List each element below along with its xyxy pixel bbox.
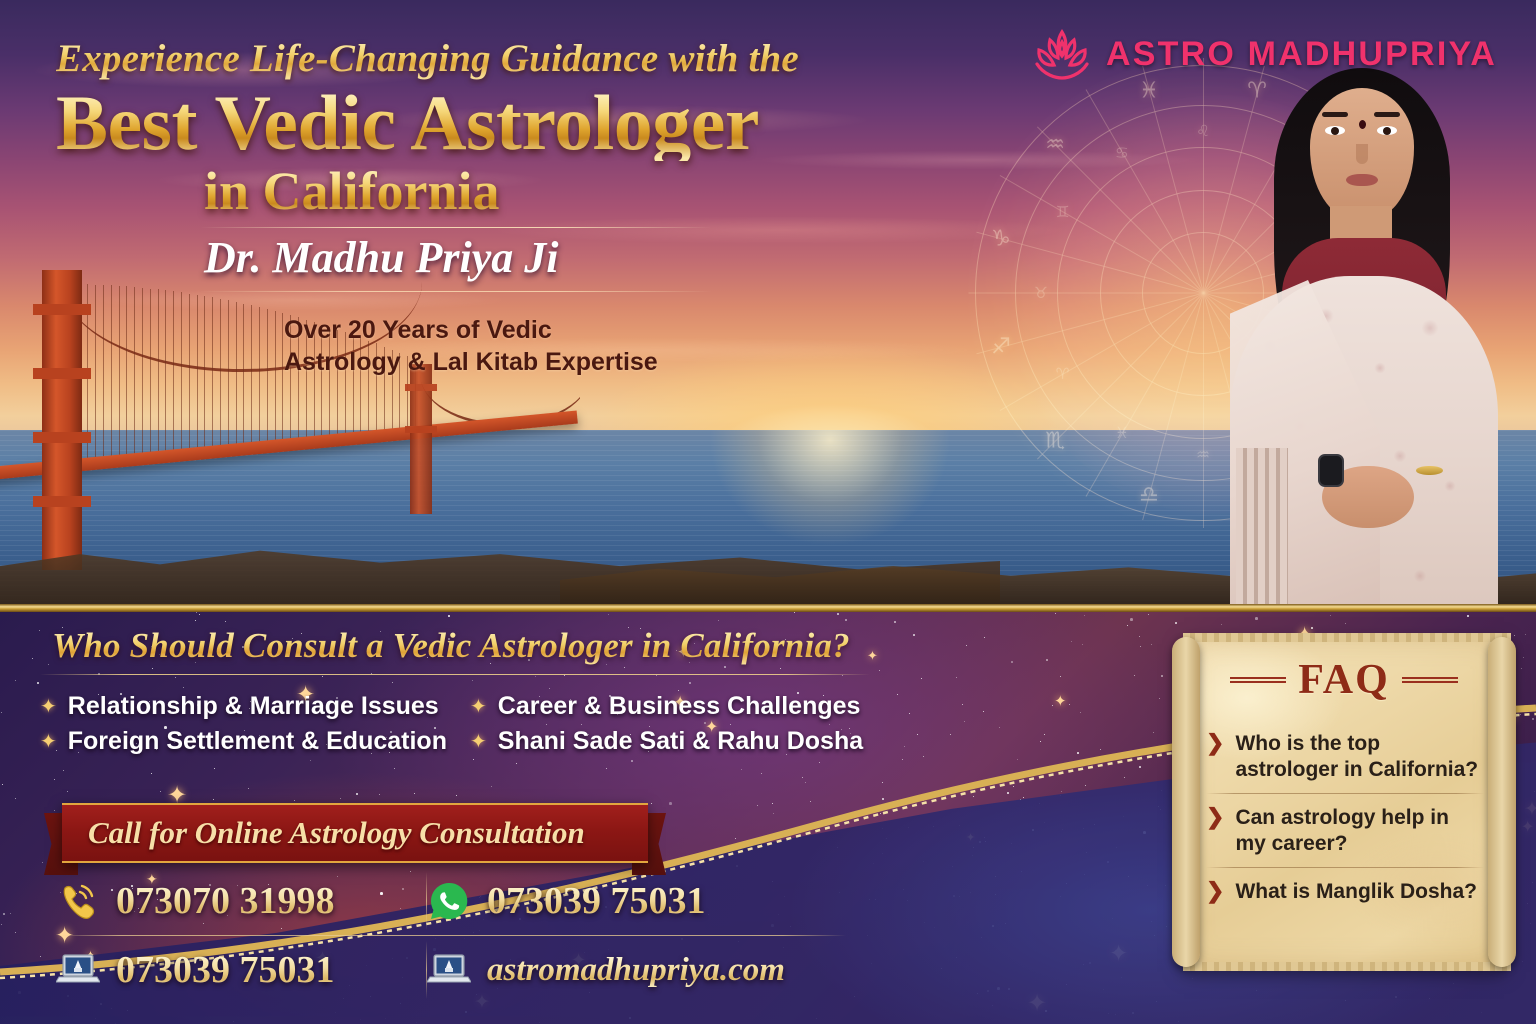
list-item: ✦ Foreign Settlement & Education <box>40 727 470 756</box>
wristwatch <box>1318 454 1344 487</box>
faq-item[interactable]: ❯ Who is the top astrologer in Californi… <box>1206 720 1484 793</box>
contact-whatsapp[interactable]: 073039 75031 <box>427 879 827 923</box>
hero-title-line1: Best Vedic Astrologer <box>56 85 886 161</box>
saree-pleats <box>1236 448 1288 612</box>
contact-row-1: 073070 31998 073039 75031 <box>56 872 846 930</box>
headline-divider-top <box>200 227 712 228</box>
consult-heading-underline <box>40 674 870 675</box>
hero-eyebrow: Experience Life-Changing Guidance with t… <box>56 36 886 81</box>
cta-ribbon: Call for Online Astrology Consultation <box>44 803 664 863</box>
contact-website[interactable]: astromadhupriya.com <box>427 950 827 990</box>
nose <box>1356 144 1368 164</box>
lotus-icon <box>1032 26 1092 82</box>
faq-item[interactable]: ❯ What is Manglik Dosha? <box>1206 868 1484 916</box>
consult-bullet-list: ✦ Relationship & Marriage Issues ✦ Caree… <box>40 692 870 756</box>
contact-phone-secondary[interactable]: 073039 75031 <box>56 948 426 992</box>
bindi <box>1359 120 1366 129</box>
contact-phone[interactable]: 073070 31998 <box>56 879 426 923</box>
contact-value: 073070 31998 <box>116 879 335 923</box>
list-item-label: Foreign Settlement & Education <box>68 727 447 756</box>
eye-left <box>1325 126 1345 135</box>
contact-block: 073070 31998 073039 75031 <box>56 872 846 999</box>
faq-dash-left <box>1230 677 1286 683</box>
eyebrow-left <box>1322 112 1348 117</box>
headline-divider-bottom <box>200 291 712 292</box>
list-item-label: Shani Sade Sati & Rahu Dosha <box>498 727 863 756</box>
chevron-right-icon: ❯ <box>1206 879 1224 905</box>
sparkle-icon: ✦ <box>470 694 487 719</box>
bridge-tower-far <box>410 364 432 514</box>
brand-logo[interactable]: ASTRO MADHUPRIYA <box>1032 26 1497 82</box>
hero-section: ♈♉♊♋♌♍♎♏♐♑♒♓♍♎♏♐♑♒♓♈♉♊♋♌ <box>0 0 1536 612</box>
brand-name: ASTRO MADHUPRIYA <box>1106 35 1497 74</box>
contact-value: 073039 75031 <box>487 879 706 923</box>
faq-question: Who is the top astrologer in California? <box>1235 731 1484 782</box>
hero-title-line2: in California <box>56 163 886 220</box>
hero-subtitle: Over 20 Years of Vedic Astrology & Lal K… <box>284 314 886 379</box>
lips <box>1346 174 1378 186</box>
eye-right <box>1377 126 1397 135</box>
list-item: ✦ Relationship & Marriage Issues <box>40 692 470 721</box>
faq-question: Can astrology help in my career? <box>1235 805 1484 856</box>
contact-row-2: 073039 75031 astromadhupriya.com <box>56 941 846 999</box>
chevron-right-icon: ❯ <box>1206 731 1224 782</box>
chevron-right-icon: ❯ <box>1206 805 1224 856</box>
faq-title: FAQ <box>1298 656 1390 704</box>
astrologer-name: Dr. Madhu Priya Ji <box>56 232 886 283</box>
faq-question-list: ❯ Who is the top astrologer in Californi… <box>1206 720 1484 916</box>
ribbon-label: Call for Online Astrology Consultation <box>88 815 585 851</box>
gold-section-divider <box>0 604 1536 612</box>
faq-panel: FAQ ❯ Who is the top astrologer in Calif… <box>1172 628 1516 976</box>
hero-headline-block: Experience Life-Changing Guidance with t… <box>56 36 886 379</box>
list-item: ✦ Career & Business Challenges <box>470 692 870 721</box>
contact-horizontal-divider <box>56 935 846 936</box>
faq-dash-right <box>1402 677 1458 683</box>
consult-heading: Who Should Consult a Vedic Astrologer in… <box>52 626 850 666</box>
eyebrow-right <box>1374 112 1400 117</box>
sparkle-icon: ✦ <box>40 729 57 754</box>
astrologer-portrait <box>1178 48 1530 612</box>
laptop-icon <box>427 950 471 990</box>
contact-value: 073039 75031 <box>116 948 335 992</box>
hero-subtitle-line1: Over 20 Years of Vedic <box>284 314 886 347</box>
bangle <box>1416 466 1443 475</box>
hero-subtitle-line2: Astrology & Lal Kitab Expertise <box>284 346 886 379</box>
sparkle-icon: ✦ <box>40 694 57 719</box>
contact-value: astromadhupriya.com <box>487 952 785 989</box>
list-item-label: Relationship & Marriage Issues <box>68 692 439 721</box>
whatsapp-icon <box>427 881 471 921</box>
faq-item[interactable]: ❯ Can astrology help in my career? <box>1206 794 1484 867</box>
astrology-promo-banner: ♈♉♊♋♌♍♎♏♐♑♒♓♍♎♏♐♑♒♓♈♉♊♋♌ <box>0 0 1536 1024</box>
faq-question: What is Manglik Dosha? <box>1235 879 1477 905</box>
ribbon-body: Call for Online Astrology Consultation <box>62 803 648 863</box>
faq-header: FAQ <box>1184 656 1504 704</box>
laptop-icon <box>56 950 100 990</box>
list-item-label: Career & Business Challenges <box>498 692 861 721</box>
phone-call-icon <box>56 881 100 921</box>
sparkle-icon: ✦ <box>470 729 487 754</box>
list-item: ✦ Shani Sade Sati & Rahu Dosha <box>470 727 870 756</box>
